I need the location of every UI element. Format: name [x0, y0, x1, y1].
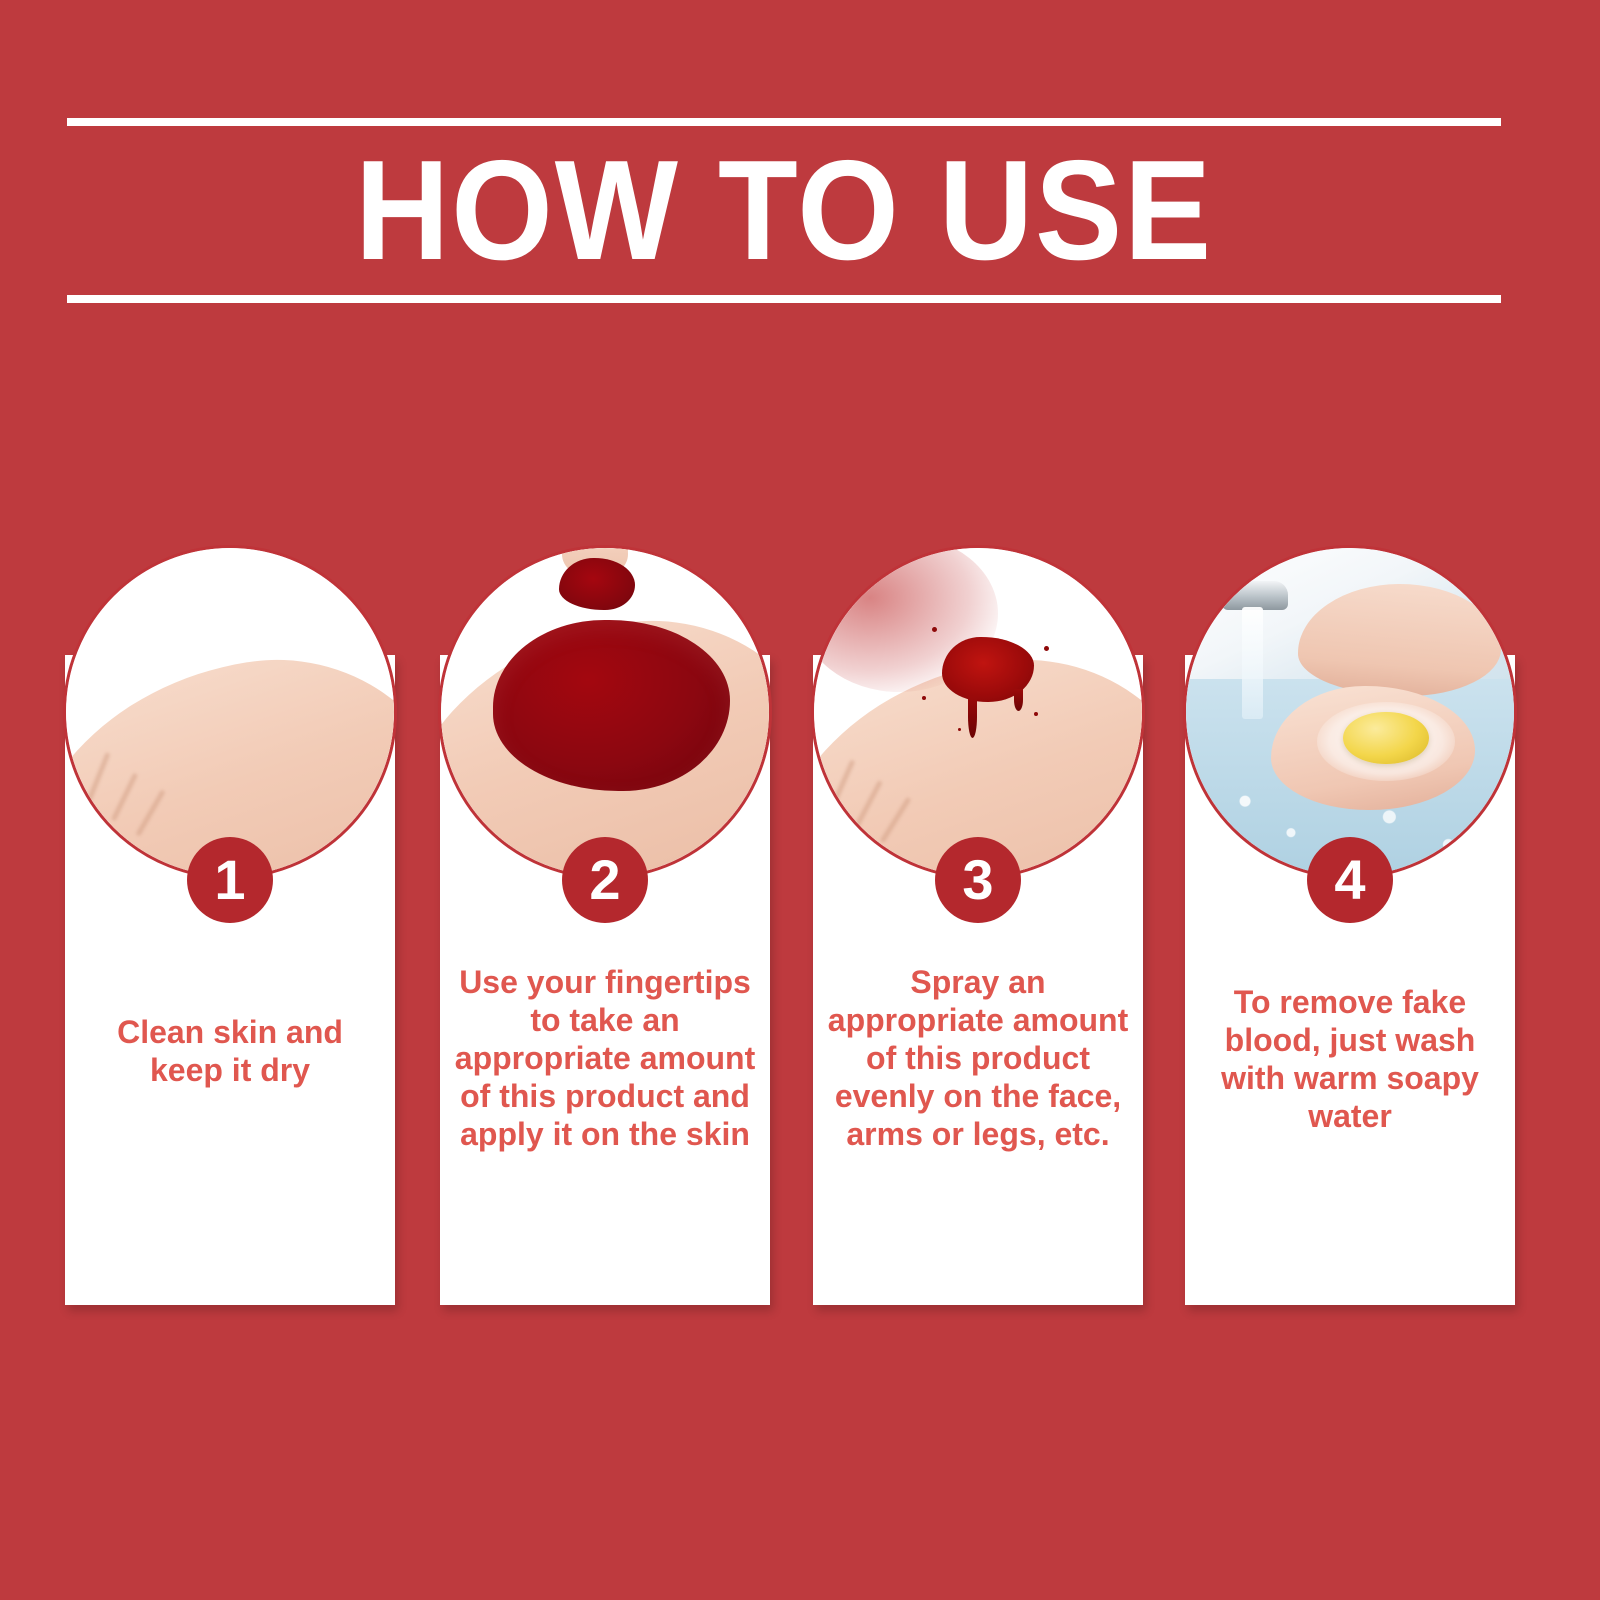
step-number-badge-4: 4 — [1307, 837, 1393, 923]
step-image-4 — [1183, 545, 1517, 879]
soap-bar-icon — [1343, 712, 1428, 764]
step-caption-3: Spray an appropriate amount of this prod… — [827, 963, 1129, 1153]
page-title: HOW TO USE — [124, 132, 1443, 290]
step-caption-1: Clean skin and keep it dry — [79, 1013, 381, 1089]
water-stream-illustration — [1242, 607, 1263, 719]
step-number-badge-3: 3 — [935, 837, 1021, 923]
step-image-3 — [811, 545, 1145, 879]
step-image-2 — [438, 545, 772, 879]
header-rule-top — [67, 118, 1501, 126]
step-caption-4: To remove fake blood, just wash with war… — [1199, 983, 1501, 1135]
step-card-4: 4 To remove fake blood, just wash with w… — [1185, 545, 1515, 1305]
faucet-icon — [1222, 581, 1288, 611]
step-caption-2: Use your fingertips to take an appropria… — [454, 963, 756, 1153]
header: HOW TO USE — [67, 118, 1501, 303]
blood-drip-icon — [968, 696, 977, 738]
step-number-badge-1: 1 — [187, 837, 273, 923]
step-image-1 — [63, 545, 397, 879]
step-card-1: 1 Clean skin and keep it dry — [65, 545, 395, 1305]
step-card-2: 2 Use your fingertips to take an appropr… — [440, 545, 770, 1305]
header-rule-bottom — [67, 295, 1501, 303]
step-card-3: 3 Spray an appropriate amount of this pr… — [813, 545, 1143, 1305]
step-number-badge-2: 2 — [562, 837, 648, 923]
steps-row: 1 Clean skin and keep it dry 2 Use your … — [65, 545, 1537, 1305]
blood-drop-icon — [559, 558, 634, 610]
blood-pool-illustration — [493, 620, 729, 791]
infographic-page: HOW TO USE 1 Clean skin and keep it dry — [0, 0, 1600, 1600]
